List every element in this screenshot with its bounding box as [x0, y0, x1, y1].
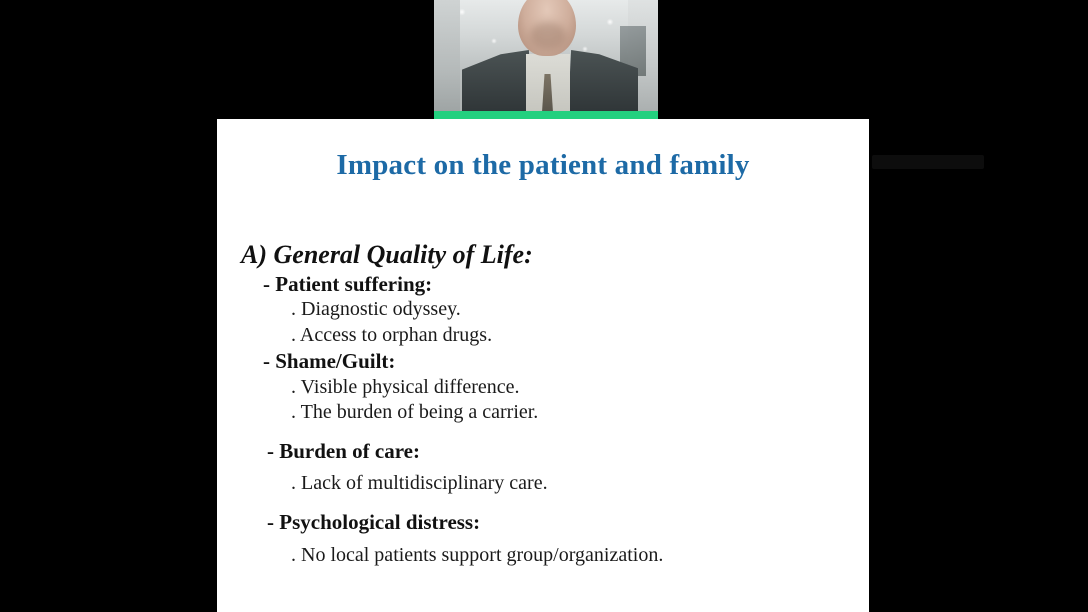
bullet-heading-psychological-distress: - Psychological distress: [267, 509, 869, 535]
sub-bullet: . Visible physical difference. [291, 375, 869, 401]
sub-bullet: . Lack of multidisciplinary care. [291, 471, 869, 497]
section-heading: A) General Quality of Life: [241, 239, 869, 271]
sub-bullet: . The burden of being a carrier. [291, 400, 869, 426]
sub-bullet: . No local patients support group/organi… [291, 543, 869, 569]
participant-video-tile[interactable] [434, 0, 658, 120]
bullet-heading-burden-of-care: - Burden of care: [267, 438, 869, 464]
video-wall-left [434, 0, 460, 120]
spacer [217, 536, 869, 543]
slide-title: Impact on the patient and family [217, 149, 869, 182]
spacer [217, 497, 869, 509]
dimmed-control-strip[interactable] [872, 155, 984, 169]
sub-bullet: . Access to orphan drugs. [291, 323, 869, 349]
presentation-slide: Impact on the patient and family A) Gene… [217, 119, 869, 612]
slide-body: A) General Quality of Life: - Patient su… [217, 239, 869, 568]
spacer [217, 464, 869, 471]
bullet-heading-patient-suffering: - Patient suffering: [263, 271, 869, 297]
screen-share-viewport: Impact on the patient and family A) Gene… [0, 0, 1088, 612]
video-person-face-shadow [530, 22, 566, 50]
spacer [217, 426, 869, 438]
bullet-heading-shame-guilt: - Shame/Guilt: [263, 348, 869, 374]
sub-bullet: . Diagnostic odyssey. [291, 297, 869, 323]
